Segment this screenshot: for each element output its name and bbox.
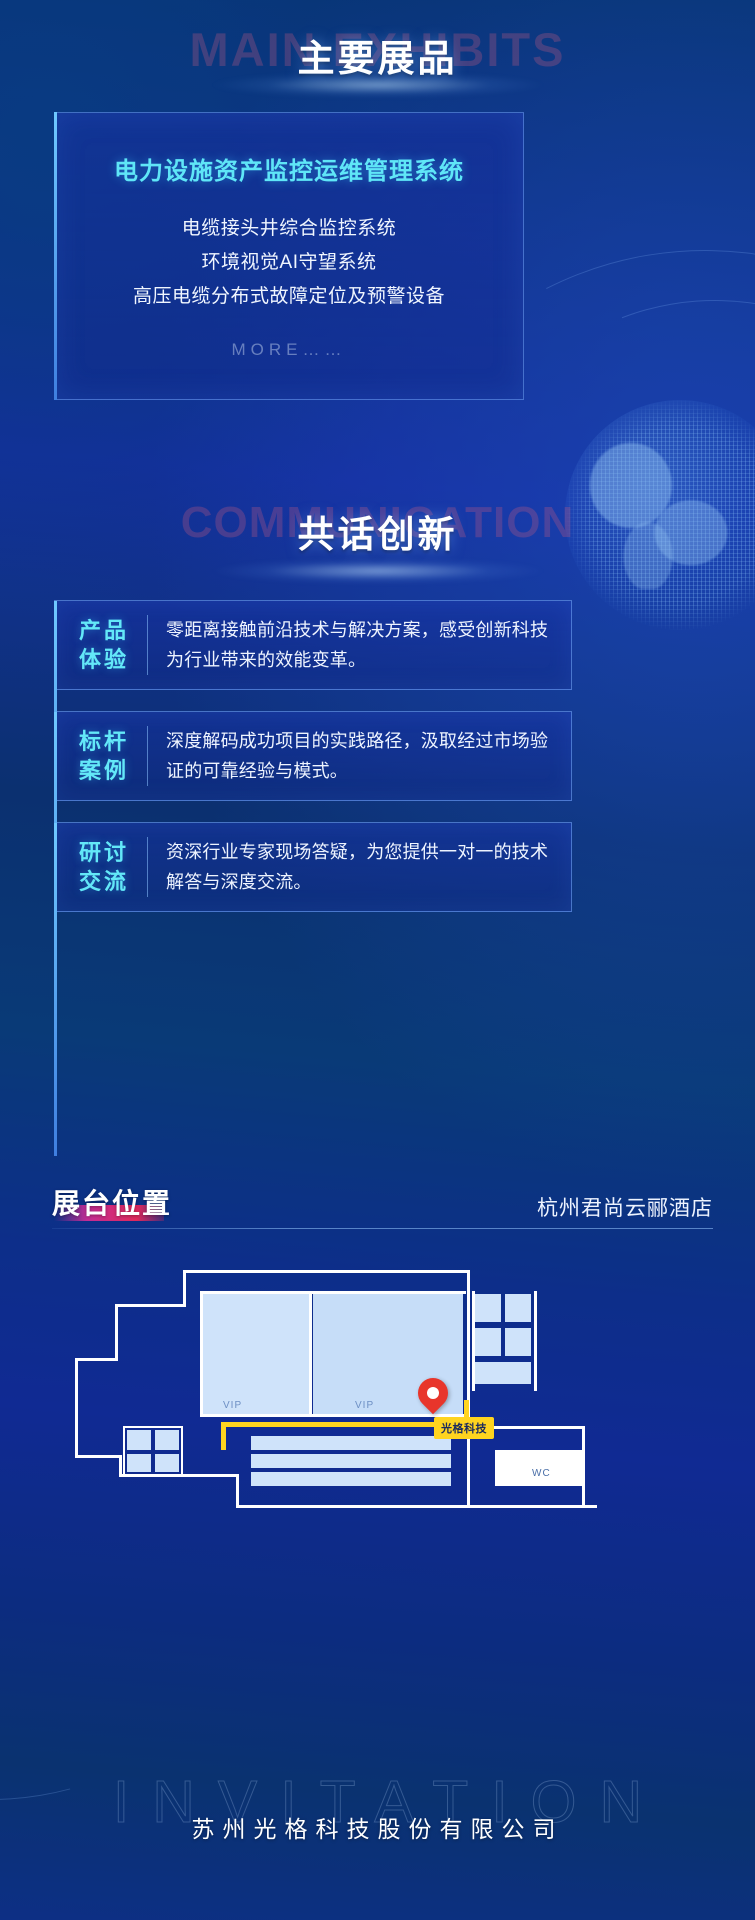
feature-description: 零距离接触前沿技术与解决方案，感受创新科技为行业带来的效能变革。 xyxy=(148,601,571,689)
exhibit-more-link[interactable]: MORE…… xyxy=(55,340,523,360)
hall-label: WC xyxy=(532,1468,551,1479)
feature-tag-line1: 产品 xyxy=(79,616,129,645)
exhibit-item: 高压电缆分布式故障定位及预警设备 xyxy=(55,280,523,314)
company-name: 苏州光格科技股份有限公司 xyxy=(0,1810,755,1844)
feature-card-list: 产品 体验 零距离接触前沿技术与解决方案，感受创新科技为行业带来的效能变革。 标… xyxy=(54,600,572,933)
invitation-page: MAIN EXHIBITS 主要展品 电力设施资产监控运维管理系统 电缆接头井综… xyxy=(0,0,755,1920)
feature-tag-line1: 标杆 xyxy=(79,727,129,756)
feature-card-benchmark-case[interactable]: 标杆 案例 深度解码成功项目的实践路径，汲取经过市场验证的可靠经验与模式。 xyxy=(54,711,572,801)
feature-card-seminar-exchange[interactable]: 研讨 交流 资深行业专家现场答疑，为您提供一对一的技术解答与深度交流。 xyxy=(54,822,572,912)
feature-tag: 产品 体验 xyxy=(55,601,147,689)
hall-label: VIP xyxy=(223,1400,242,1411)
title-glow xyxy=(213,72,543,98)
feature-card-product-experience[interactable]: 产品 体验 零距离接触前沿技术与解决方案，感受创新科技为行业带来的效能变革。 xyxy=(54,600,572,690)
communication-section-title: COMMUNICATION 共话创新 xyxy=(0,492,755,572)
feature-tag-line2: 案例 xyxy=(79,756,129,785)
booth-divider xyxy=(52,1228,713,1229)
feature-tag: 研讨 交流 xyxy=(55,823,147,911)
exhibit-card: 电力设施资产监控运维管理系统 电缆接头井综合监控系统 环境视觉AI守望系统 高压… xyxy=(54,112,524,400)
exhibit-item-list: 电缆接头井综合监控系统 环境视觉AI守望系统 高压电缆分布式故障定位及预警设备 xyxy=(55,212,523,314)
exhibit-item: 环境视觉AI守望系统 xyxy=(55,246,523,280)
marker-label: 光格科技 xyxy=(434,1417,494,1439)
communication-title-text: 共话创新 xyxy=(298,504,458,558)
exhibit-item: 电缆接头井综合监控系统 xyxy=(55,212,523,246)
main-exhibits-section-title: MAIN EXHIBITS 主要展品 xyxy=(0,16,755,86)
hall-label: VIP xyxy=(355,1400,374,1411)
feature-description: 资深行业专家现场答疑，为您提供一对一的技术解答与深度交流。 xyxy=(148,823,571,911)
feature-tag: 标杆 案例 xyxy=(55,712,147,800)
footer: INVITATION 苏州光格科技股份有限公司 xyxy=(0,1768,755,1844)
location-marker-icon[interactable] xyxy=(418,1378,448,1418)
card-accent-bar xyxy=(54,112,57,400)
feature-tag-line1: 研讨 xyxy=(79,838,129,867)
booth-venue-name: 杭州君尚云郦酒店 xyxy=(537,1192,713,1222)
booth-header: 展台位置 杭州君尚云郦酒店 xyxy=(52,1182,713,1222)
exhibit-card-heading: 电力设施资产监控运维管理系统 xyxy=(55,151,523,186)
pin-dot xyxy=(427,1387,439,1399)
feature-description: 深度解码成功项目的实践路径，汲取经过市场验证的可靠经验与模式。 xyxy=(148,712,571,800)
floor-map[interactable]: VIP VIP WC xyxy=(55,1250,700,1570)
feature-tag-line2: 体验 xyxy=(79,645,129,674)
booth-title: 展台位置 xyxy=(52,1188,172,1219)
title-glow xyxy=(213,558,543,584)
card-accent-bar xyxy=(54,823,57,1156)
feature-tag-line2: 交流 xyxy=(79,867,129,896)
booth-title-wrap: 展台位置 xyxy=(52,1182,172,1222)
